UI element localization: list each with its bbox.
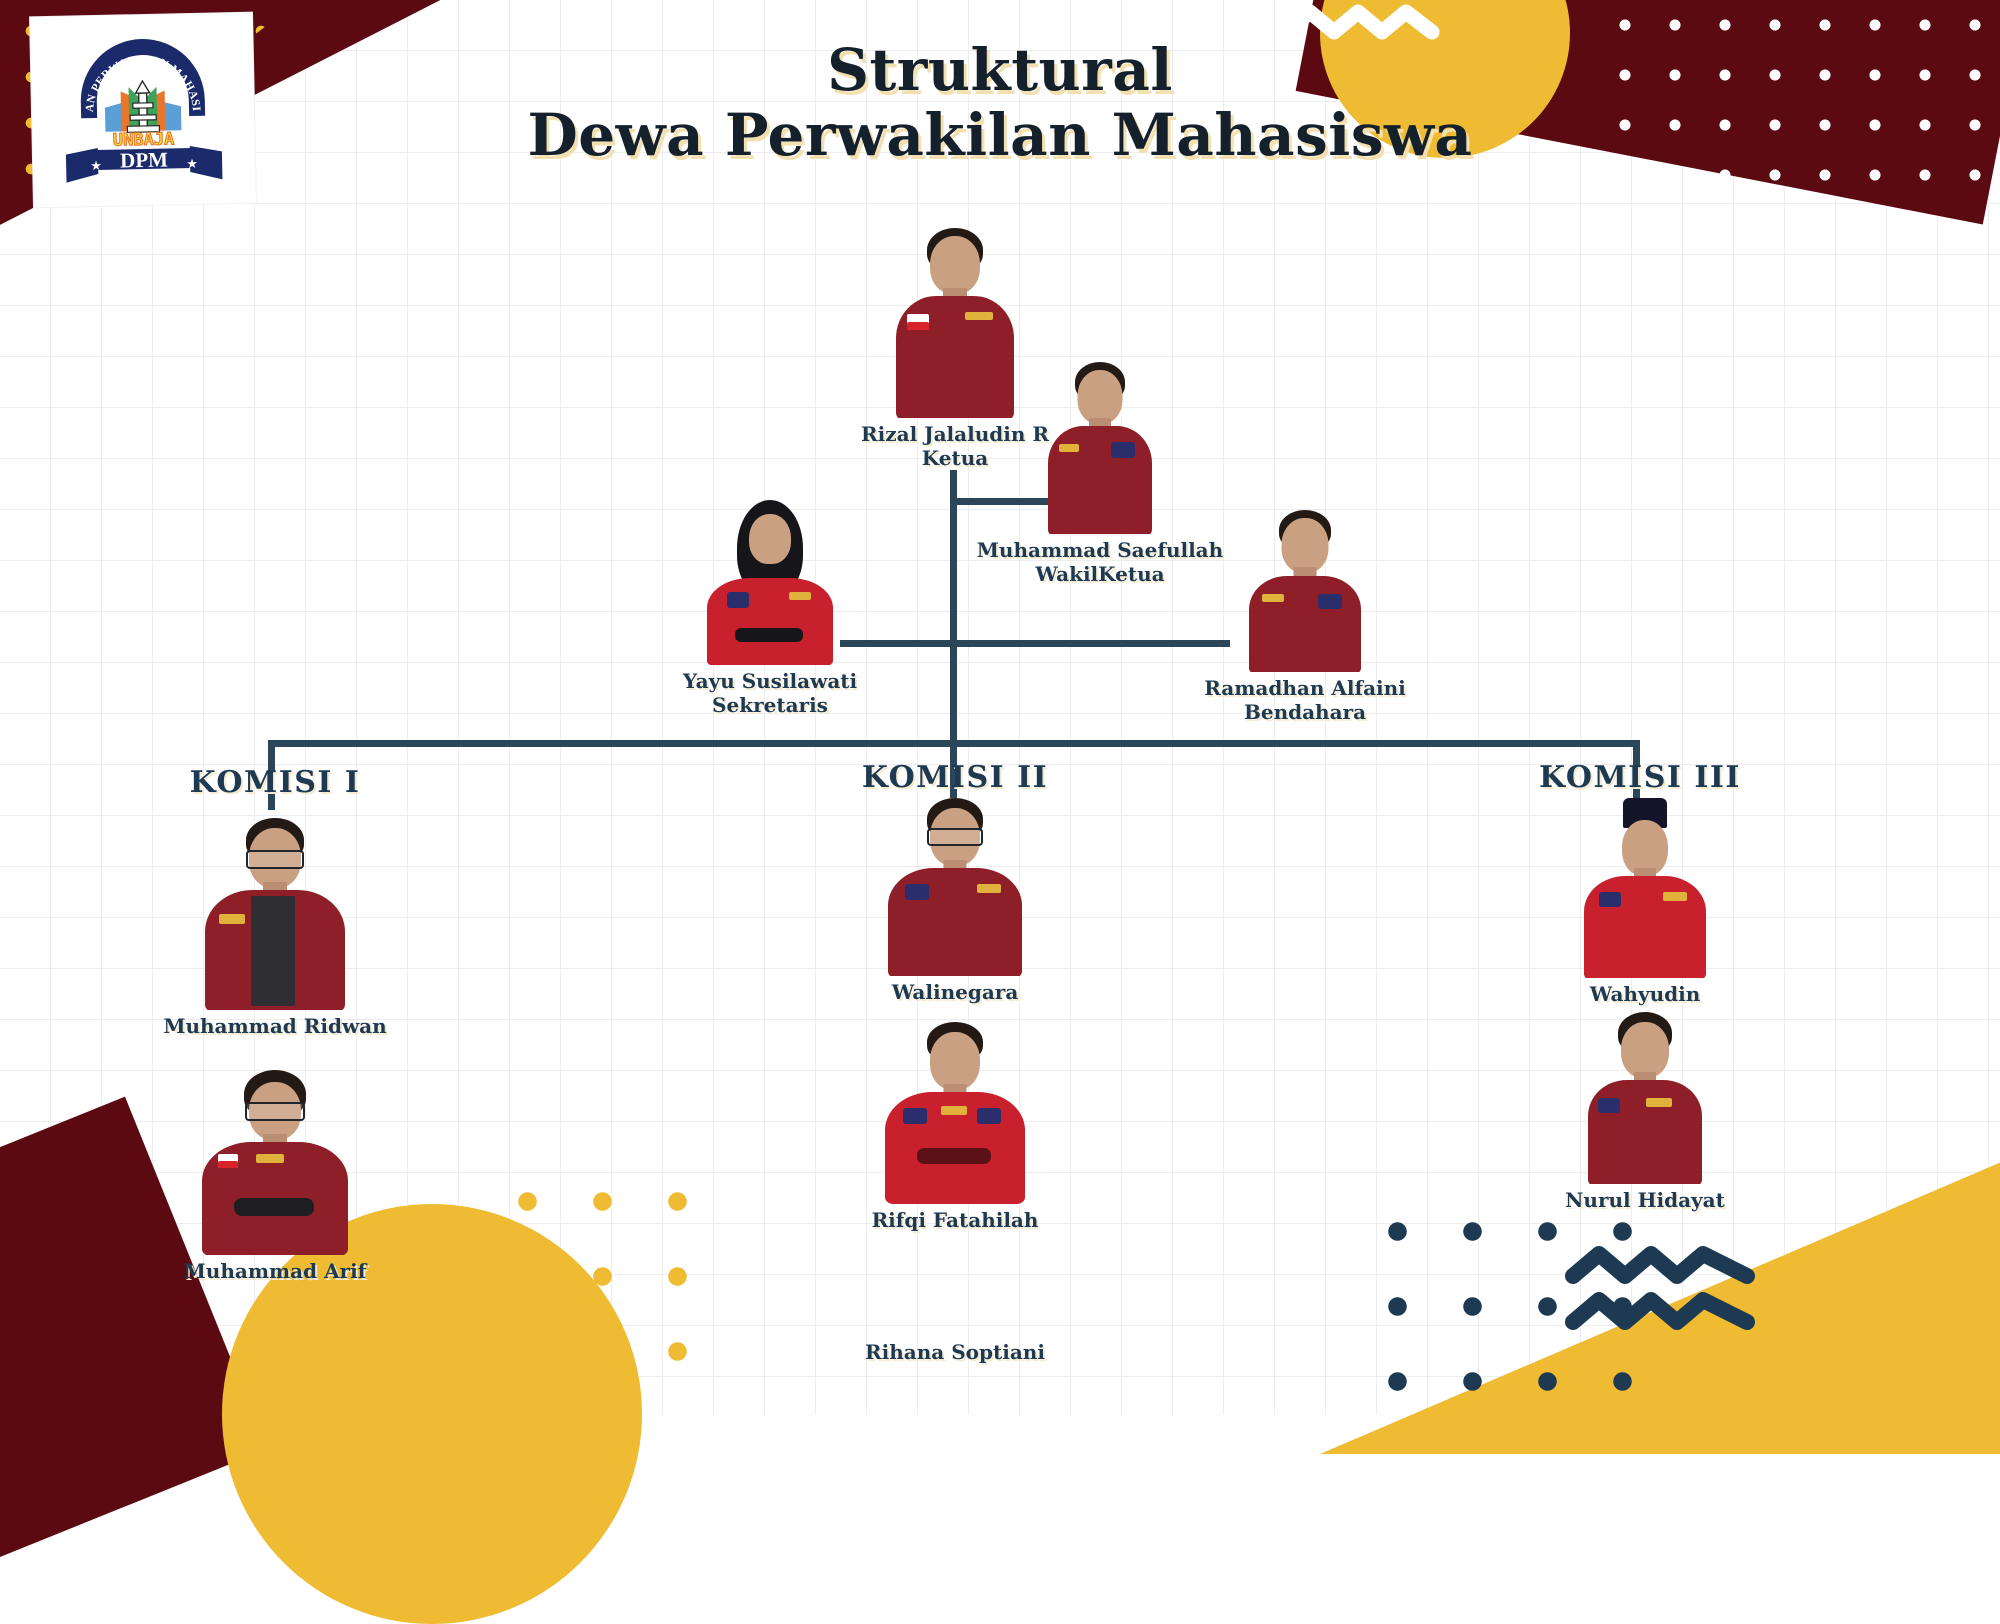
komisi-2-member-0-photo — [885, 798, 1025, 976]
page-title-line1: Struktural — [0, 38, 2000, 103]
komisi-2-member-0: Walinegara — [840, 798, 1070, 1004]
komisi-1-member-1: Muhammad Arif — [150, 1070, 400, 1283]
komisi-1-member-0-photo — [203, 818, 348, 1010]
bendahara-photo — [1246, 510, 1364, 672]
komisi-3-member-0: Wahyudin — [1530, 798, 1760, 1006]
page-title-line2: Dewa Perwakilan Mahasiswa — [0, 103, 2000, 168]
komisi-1-member-1-name: Muhammad Arif — [150, 1259, 400, 1283]
person-bendahara: Ramadhan Alfaini Bendahara — [1160, 510, 1450, 725]
wakil-ketua-photo — [1045, 362, 1155, 534]
komisi-1-member-0: Muhammad Ridwan — [150, 818, 400, 1038]
page-title: Struktural Dewa Perwakilan Mahasiswa — [0, 38, 2000, 168]
komisi-3-member-0-name: Wahyudin — [1530, 982, 1760, 1006]
bendahara-name: Ramadhan Alfaini — [1160, 676, 1450, 700]
sekretaris-role: Sekretaris — [620, 693, 920, 717]
komisi-2-member-1-photo — [883, 1022, 1028, 1204]
komisi-2-title: KOMISI II — [810, 760, 1100, 795]
komisi-3-member-1: Nurul Hidayat — [1530, 1012, 1760, 1212]
komisi-1-member-1-photo — [200, 1070, 350, 1255]
person-sekretaris: Yayu Susilawati Sekretaris — [620, 500, 920, 718]
komisi-2-member-1-name: Rifqi Fatahilah — [840, 1208, 1070, 1232]
komisi-3-member-1-name: Nurul Hidayat — [1530, 1188, 1760, 1212]
komisi-1-title: KOMISI I — [130, 765, 420, 800]
komisi-2-member-0-name: Walinegara — [840, 980, 1070, 1004]
footer-member-name: Rihana Soptiani — [810, 1340, 1100, 1364]
komisi-1-member-0-name: Muhammad Ridwan — [150, 1014, 400, 1038]
komisi-3-member-0-photo — [1581, 798, 1709, 978]
komisi-3-member-1-photo — [1586, 1012, 1704, 1184]
bendahara-role: Bendahara — [1160, 700, 1450, 724]
sekretaris-name: Yayu Susilawati — [620, 669, 920, 693]
sekretaris-photo — [705, 500, 835, 665]
komisi-2-member-1: Rifqi Fatahilah — [840, 1022, 1070, 1232]
komisi-3-title: KOMISI III — [1495, 760, 1785, 795]
